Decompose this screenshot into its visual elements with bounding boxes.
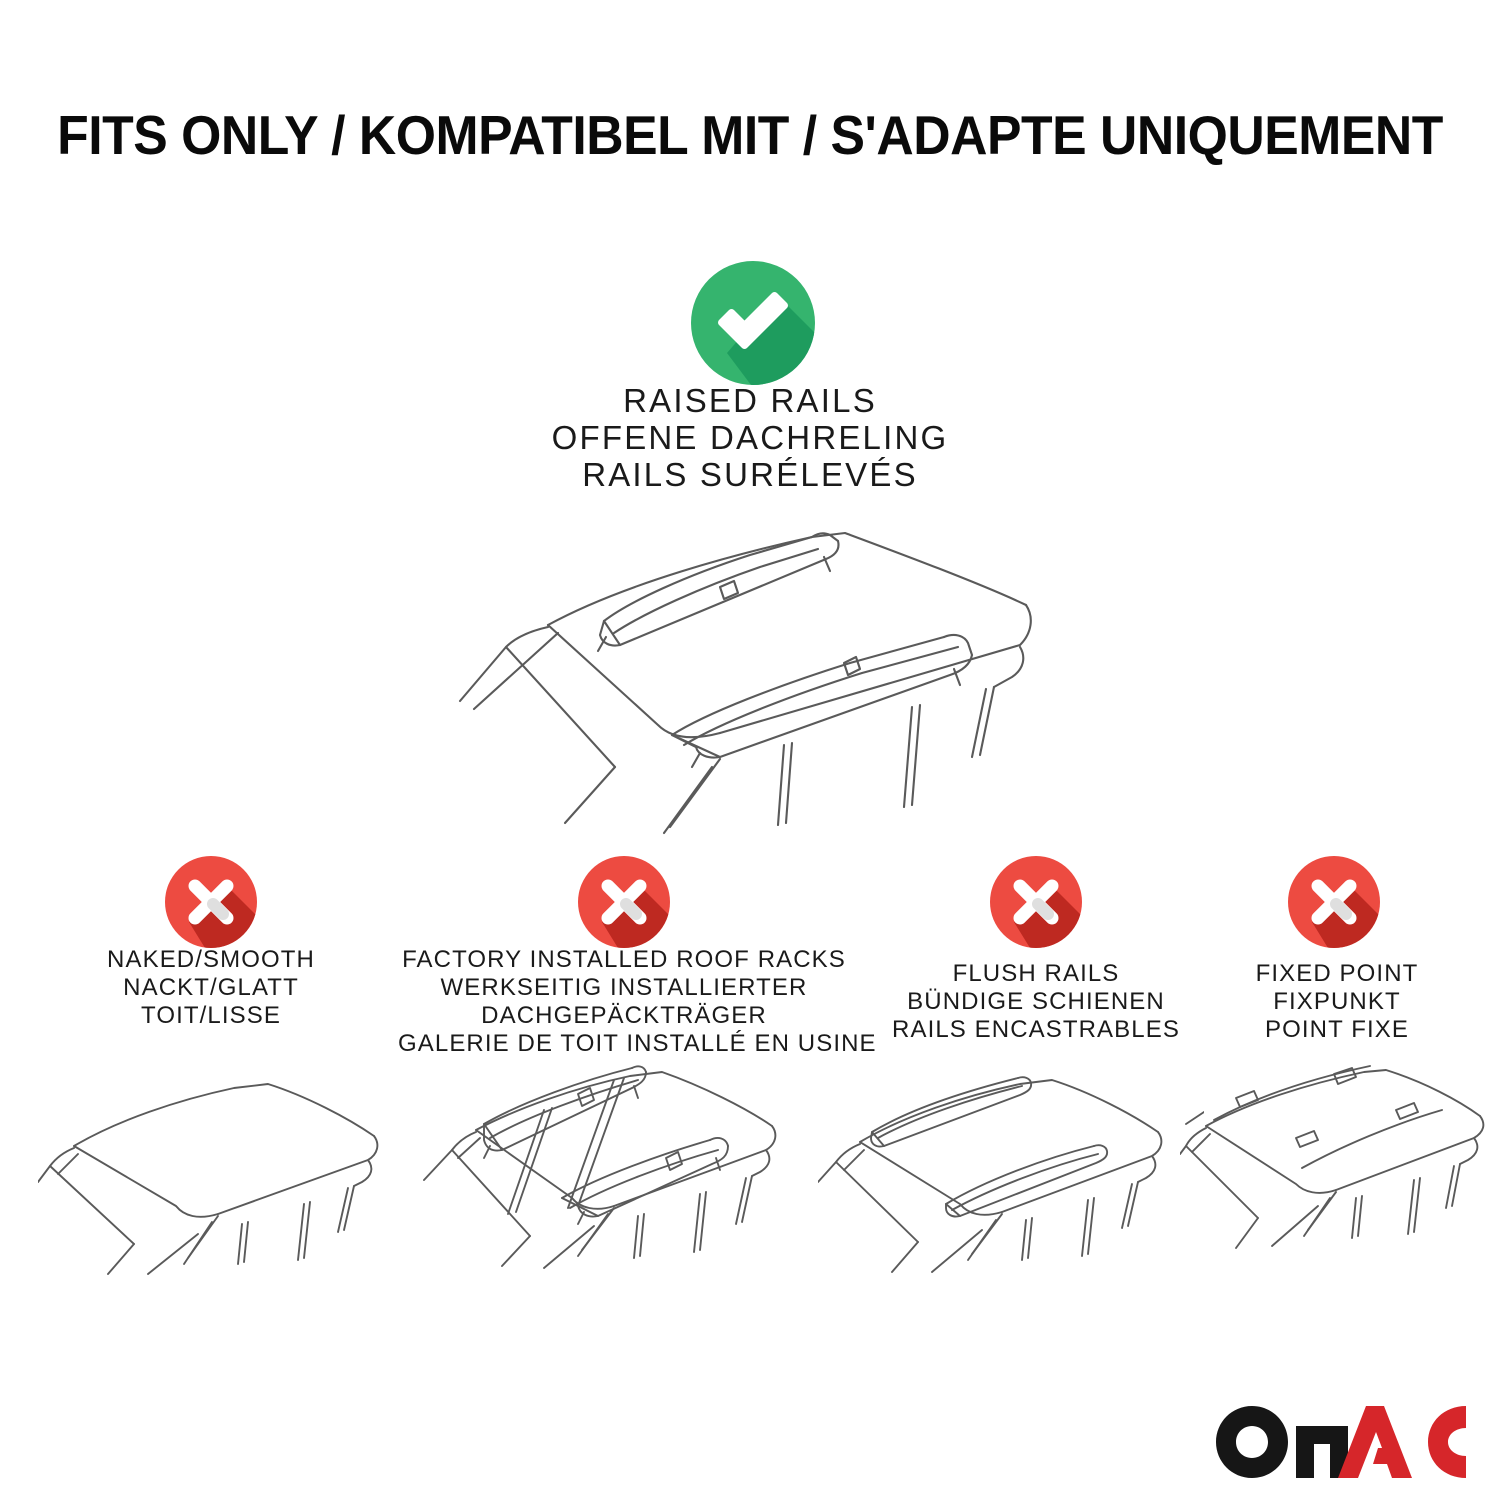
page-title: FITS ONLY / KOMPATIBEL MIT / S'ADAPTE UN…	[45, 108, 1455, 163]
omac-logo-a	[1338, 1406, 1412, 1478]
omac-logo-m	[1296, 1426, 1348, 1478]
omac-logo-o	[1216, 1406, 1288, 1478]
caption-naked-smooth-line-1: NAKED/SMOOTH	[56, 946, 366, 974]
car-roof-fixed-point-illustration	[1180, 1060, 1500, 1310]
check-circle-icon	[691, 261, 815, 385]
caption-fixed-point-line-3: POINT FIXE	[1218, 1016, 1456, 1044]
caption-flush-rails: FLUSH RAILS BÜNDIGE SCHIENEN RAILS ENCAS…	[856, 960, 1216, 1044]
compatible-line-2: OFFENE DACHRELING	[0, 419, 1500, 456]
compatible-line-1: RAISED RAILS	[0, 382, 1500, 419]
caption-naked-smooth-line-3: TOIT/LISSE	[56, 1002, 366, 1030]
caption-fixed-point-line-2: FIXPUNKT	[1218, 988, 1456, 1016]
omac-logo-c	[1428, 1406, 1466, 1478]
caption-factory-racks: FACTORY INSTALLED ROOF RACKS WERKSEITIG …	[398, 946, 850, 1058]
omac-logo	[1216, 1406, 1466, 1478]
cross-circle-icon-factory-racks	[578, 856, 670, 948]
caption-factory-racks-line-4: GALERIE DE TOIT INSTALLÉ EN USINE	[398, 1030, 850, 1058]
cross-circle-icon-flush-rails	[990, 856, 1082, 948]
car-roof-flush-rails-illustration	[818, 1062, 1204, 1312]
cross-circle-icon-fixed-point	[1288, 856, 1380, 948]
compatible-caption: RAISED RAILS OFFENE DACHRELING RAILS SUR…	[0, 382, 1500, 493]
car-roof-raised-rails-illustration	[420, 505, 1100, 835]
car-roof-factory-racks-illustration	[418, 1058, 804, 1312]
cross-circle-icon-naked-smooth	[165, 856, 257, 948]
caption-factory-racks-line-3: DACHGEPÄCKTRÄGER	[398, 1002, 850, 1030]
fitment-infographic: FITS ONLY / KOMPATIBEL MIT / S'ADAPTE UN…	[0, 0, 1500, 1500]
caption-fixed-point-line-1: FIXED POINT	[1218, 960, 1456, 988]
caption-naked-smooth-line-2: NACKT/GLATT	[56, 974, 366, 1002]
car-roof-naked-smooth-illustration	[38, 1062, 424, 1312]
caption-flush-rails-line-2: BÜNDIGE SCHIENEN	[856, 988, 1216, 1016]
caption-naked-smooth: NAKED/SMOOTH NACKT/GLATT TOIT/LISSE	[56, 946, 366, 1030]
caption-flush-rails-line-3: RAILS ENCASTRABLES	[856, 1016, 1216, 1044]
caption-factory-racks-line-1: FACTORY INSTALLED ROOF RACKS	[398, 946, 850, 974]
caption-factory-racks-line-2: WERKSEITIG INSTALLIERTER	[398, 974, 850, 1002]
caption-fixed-point: FIXED POINT FIXPUNKT POINT FIXE	[1218, 960, 1456, 1044]
caption-flush-rails-line-1: FLUSH RAILS	[856, 960, 1216, 988]
compatible-line-3: RAILS SURÉLEVÉS	[0, 456, 1500, 493]
